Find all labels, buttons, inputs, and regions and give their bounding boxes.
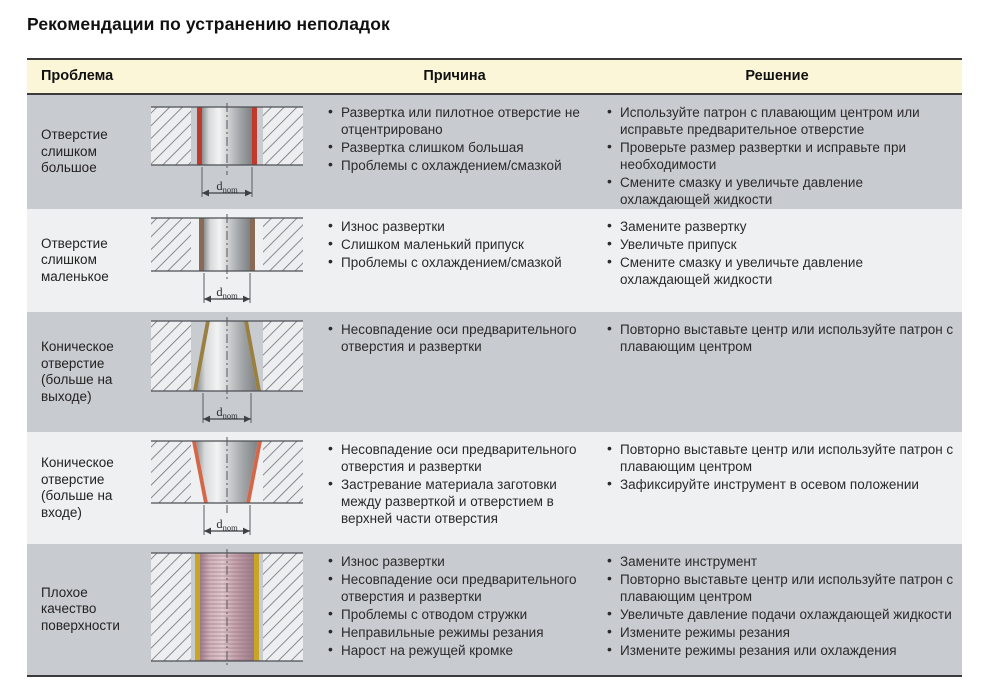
table-row: Отверстие слишком большое (27, 94, 962, 209)
list-item: Замените инструмент (606, 553, 954, 570)
list-item: Увеличьте припуск (606, 236, 954, 253)
solution-cell: Используйте патрон с плавающим центром и… (592, 94, 962, 209)
list-item: Проблемы с охлаждением/смазкой (327, 157, 584, 174)
solution-cell: Замените инструментПовторно выставьте це… (592, 544, 962, 676)
list-item: Смените смазку и увеличьте давление охла… (606, 174, 954, 208)
troubleshooting-table: Проблема Причина Решение Отверстие слишк… (27, 58, 962, 677)
list-item: Несовпадение оси предварительного отверс… (327, 571, 584, 605)
cause-cell: Износ разверткиСлишком маленький припуск… (317, 209, 592, 312)
list-item: Несовпадение оси предварительного отверс… (327, 441, 584, 475)
table-body: Отверстие слишком большое (27, 94, 962, 676)
table-header: Проблема Причина Решение (27, 59, 962, 94)
table-header-row: Проблема Причина Решение (27, 59, 962, 94)
svg-text:dnom: dnom (216, 517, 238, 533)
list-item: Используйте патрон с плавающим центром и… (606, 104, 954, 138)
problem-label: Отверстие слишком маленькое (41, 236, 133, 286)
table-row: Коническое отверстие (больше на входе) (27, 432, 962, 544)
cause-list: Несовпадение оси предварительного отверс… (317, 441, 592, 527)
troubleshooting-page: Рекомендации по устранению неполадок Про… (0, 0, 990, 697)
list-item: Проверьте размер развертки и исправьте п… (606, 139, 954, 173)
cause-list: Износ разверткиСлишком маленький припуск… (317, 218, 592, 271)
problem-label: Коническое отверстие (больше на выходе) (41, 339, 133, 405)
list-item: Неправильные режимы резания (327, 624, 584, 641)
problem-cell: Плохое качество поверхности (27, 544, 137, 676)
problem-label: Плохое качество поверхности (41, 585, 133, 635)
solution-cell: Замените разверткуУвеличьте припускСмени… (592, 209, 962, 312)
list-item: Износ развертки (327, 218, 584, 235)
list-item: Несовпадение оси предварительного отверс… (327, 321, 584, 355)
cause-list: Несовпадение оси предварительного отверс… (317, 321, 592, 355)
list-item: Развертка слишком большая (327, 139, 584, 156)
list-item: Развертка или пилотное отверстие не отце… (327, 104, 584, 138)
list-item: Смените смазку и увеличьте давление охла… (606, 254, 954, 288)
list-item: Износ развертки (327, 553, 584, 570)
tapered-hole-entry-diagram: dnom (137, 432, 317, 544)
tapered-hole-exit-diagram: dnom (137, 312, 317, 432)
table-row: Отверстие слишком маленькое (27, 209, 962, 312)
problem-cell: Отверстие слишком маленькое (27, 209, 137, 312)
list-item: Нарост на режущей кромке (327, 642, 584, 659)
cause-cell: Несовпадение оси предварительного отверс… (317, 312, 592, 432)
svg-text:dnom: dnom (216, 179, 238, 195)
poor-surface-finish-diagram (137, 544, 317, 676)
solution-list: Замените разверткуУвеличьте припускСмени… (592, 218, 962, 288)
list-item: Увеличьте давление подачи охлаждающей жи… (606, 606, 954, 623)
cause-cell: Несовпадение оси предварительного отверс… (317, 432, 592, 544)
hole-too-large-diagram: dnom (137, 94, 317, 209)
list-item: Застревание материала заготовки между ра… (327, 476, 584, 527)
list-item: Повторно выставьте центр или используйте… (606, 441, 954, 475)
column-header-problem: Проблема (27, 59, 317, 94)
solution-list: Повторно выставьте центр или используйте… (592, 321, 962, 355)
page-title: Рекомендации по устранению неполадок (27, 14, 390, 35)
cause-cell: Развертка или пилотное отверстие не отце… (317, 94, 592, 209)
cause-list: Развертка или пилотное отверстие не отце… (317, 104, 592, 174)
cause-cell: Износ разверткиНесовпадение оси предвари… (317, 544, 592, 676)
list-item: Измените режимы резания (606, 624, 954, 641)
list-item: Повторно выставьте центр или используйте… (606, 571, 954, 605)
column-header-solution: Решение (592, 59, 962, 94)
svg-text:dnom: dnom (216, 405, 238, 421)
list-item: Зафиксируйте инструмент в осевом положен… (606, 476, 954, 493)
solution-list: Повторно выставьте центр или используйте… (592, 441, 962, 493)
list-item: Измените режимы резания или охлаждения (606, 642, 954, 659)
problem-label: Коническое отверстие (больше на входе) (41, 455, 133, 521)
problem-cell: Коническое отверстие (больше на входе) (27, 432, 137, 544)
cause-list: Износ разверткиНесовпадение оси предвари… (317, 553, 592, 659)
solution-cell: Повторно выставьте центр или используйте… (592, 432, 962, 544)
svg-text:dnom: dnom (216, 285, 238, 301)
list-item: Слишком маленький припуск (327, 236, 584, 253)
table-row: Плохое качество поверхности (27, 544, 962, 676)
list-item: Повторно выставьте центр или используйте… (606, 321, 954, 355)
list-item: Замените развертку (606, 218, 954, 235)
solution-list: Замените инструментПовторно выставьте це… (592, 553, 962, 659)
hole-too-small-diagram: dnom (137, 209, 317, 312)
column-header-cause: Причина (317, 59, 592, 94)
solution-cell: Повторно выставьте центр или используйте… (592, 312, 962, 432)
problem-label: Отверстие слишком большое (41, 127, 133, 177)
problem-cell: Отверстие слишком большое (27, 94, 137, 209)
list-item: Проблемы с охлаждением/смазкой (327, 254, 584, 271)
table-row: Коническое отверстие (больше на выходе) (27, 312, 962, 432)
solution-list: Используйте патрон с плавающим центром и… (592, 104, 962, 208)
problem-cell: Коническое отверстие (больше на выходе) (27, 312, 137, 432)
list-item: Проблемы с отводом стружки (327, 606, 584, 623)
